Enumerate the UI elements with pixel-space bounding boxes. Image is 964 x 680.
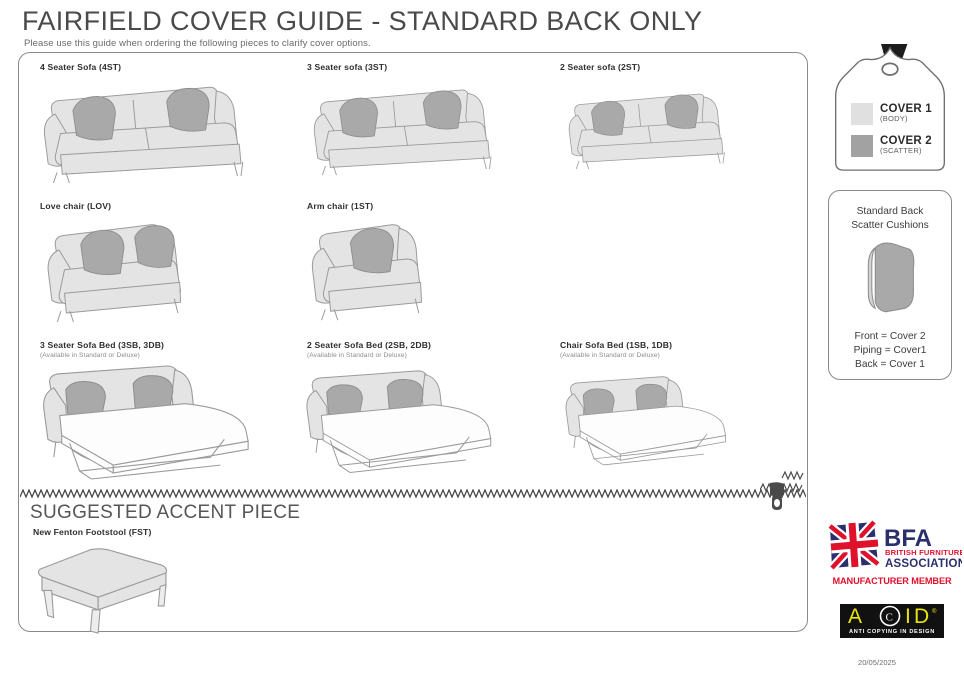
sofa-3-seater-icon <box>305 78 510 178</box>
product-label: New Fenton Footstool (FST) <box>33 527 151 537</box>
cushion-legend-front: Front = Cover 2 <box>829 330 951 344</box>
cover-1-sub: (BODY) <box>880 115 932 123</box>
page-subtitle: Please use this guide when ordering the … <box>24 38 371 49</box>
union-jack-icon <box>830 522 878 568</box>
product-cell-0: 4 Seater Sofa (4ST) <box>40 62 121 72</box>
page-title: FAIRFIELD COVER GUIDE - STANDARD BACK ON… <box>22 6 702 37</box>
cover-1-swatch <box>851 103 873 125</box>
product-sub-label: (Available in Standard or Deluxe) <box>40 352 164 359</box>
sofa-bed-2-seater-icon <box>300 364 505 482</box>
cover-legend-entry-0: COVER 1 (BODY) <box>851 103 932 125</box>
arm-chair-icon <box>300 214 435 322</box>
product-sub-label: (Available in Standard or Deluxe) <box>560 352 672 359</box>
bfa-logo-icon: BFA BRITISH FURNITURE ASSOCIATION MANUFA… <box>822 520 962 592</box>
love-chair-icon <box>36 214 201 322</box>
product-cell-7: Chair Sofa Bed (1SB, 1DB) (Available in … <box>560 340 672 359</box>
product-label: 2 Seater sofa (2ST) <box>560 62 640 72</box>
sofa-bed-3-seater-icon <box>36 362 264 486</box>
sofa-4-seater-icon <box>34 76 264 184</box>
product-cell-3: Love chair (LOV) <box>40 201 111 211</box>
acid-registered-glyph: ® <box>932 608 937 615</box>
acid-tagline: ANTI COPYING IN DESIGN <box>840 629 944 635</box>
accent-item-cell: New Fenton Footstool (FST) <box>33 527 151 537</box>
product-cell-4: Arm chair (1ST) <box>307 201 373 211</box>
sofa-2-seater-icon <box>561 80 741 175</box>
bfa-line1: BRITISH FURNITURE <box>885 548 962 557</box>
cushion-panel-title-line1: Standard Back <box>829 205 951 219</box>
bfa-line2: ASSOCIATION <box>885 558 962 570</box>
product-label: 3 Seater sofa (3ST) <box>307 62 387 72</box>
product-label: 2 Seater Sofa Bed (2SB, 2DB) <box>307 340 431 350</box>
zipper-pull-icon <box>760 470 804 510</box>
cover-2-swatch <box>851 135 873 157</box>
product-cell-2: 2 Seater sofa (2ST) <box>560 62 640 72</box>
product-label: 3 Seater Sofa Bed (3SB, 3DB) <box>40 340 164 350</box>
acid-copyright-glyph: C <box>886 612 893 624</box>
cover-2-sub: (SCATTER) <box>880 147 932 155</box>
product-label: Love chair (LOV) <box>40 201 111 211</box>
cushion-legend-piping: Piping = Cover1 <box>829 344 951 358</box>
acid-letter-a: A <box>848 605 862 628</box>
bfa-member-text: MANUFACTURER MEMBER <box>822 576 962 586</box>
chair-sofa-bed-icon <box>560 366 738 478</box>
footstool-icon <box>28 542 178 634</box>
product-cell-6: 2 Seater Sofa Bed (2SB, 2DB) (Available … <box>307 340 431 359</box>
product-label: Arm chair (1ST) <box>307 201 373 211</box>
cushion-legend-back: Back = Cover 1 <box>829 358 951 372</box>
product-cell-5: 3 Seater Sofa Bed (3SB, 3DB) (Available … <box>40 340 164 359</box>
product-label: 4 Seater Sofa (4ST) <box>40 62 121 72</box>
scatter-cushion-panel: Standard Back Scatter Cushions Front = C… <box>828 190 952 380</box>
scatter-cushion-icon <box>859 239 921 317</box>
document-date: 20/05/2025 <box>0 658 964 667</box>
accent-section-title: SUGGESTED ACCENT PIECE <box>30 502 300 524</box>
acid-letter-i: I <box>905 605 911 628</box>
product-label: Chair Sofa Bed (1SB, 1DB) <box>560 340 672 350</box>
acid-logo-icon: A C I D ® ANTI COPYING IN DESIGN <box>840 604 944 640</box>
cushion-panel-title-line2: Scatter Cushions <box>829 219 951 233</box>
acid-letter-d: D <box>914 605 929 628</box>
perforation-zigzag-icon <box>20 489 806 498</box>
cover-legend-entry-1: COVER 2 (SCATTER) <box>851 135 932 157</box>
product-sub-label: (Available in Standard or Deluxe) <box>307 352 431 359</box>
product-cell-1: 3 Seater sofa (3ST) <box>307 62 387 72</box>
